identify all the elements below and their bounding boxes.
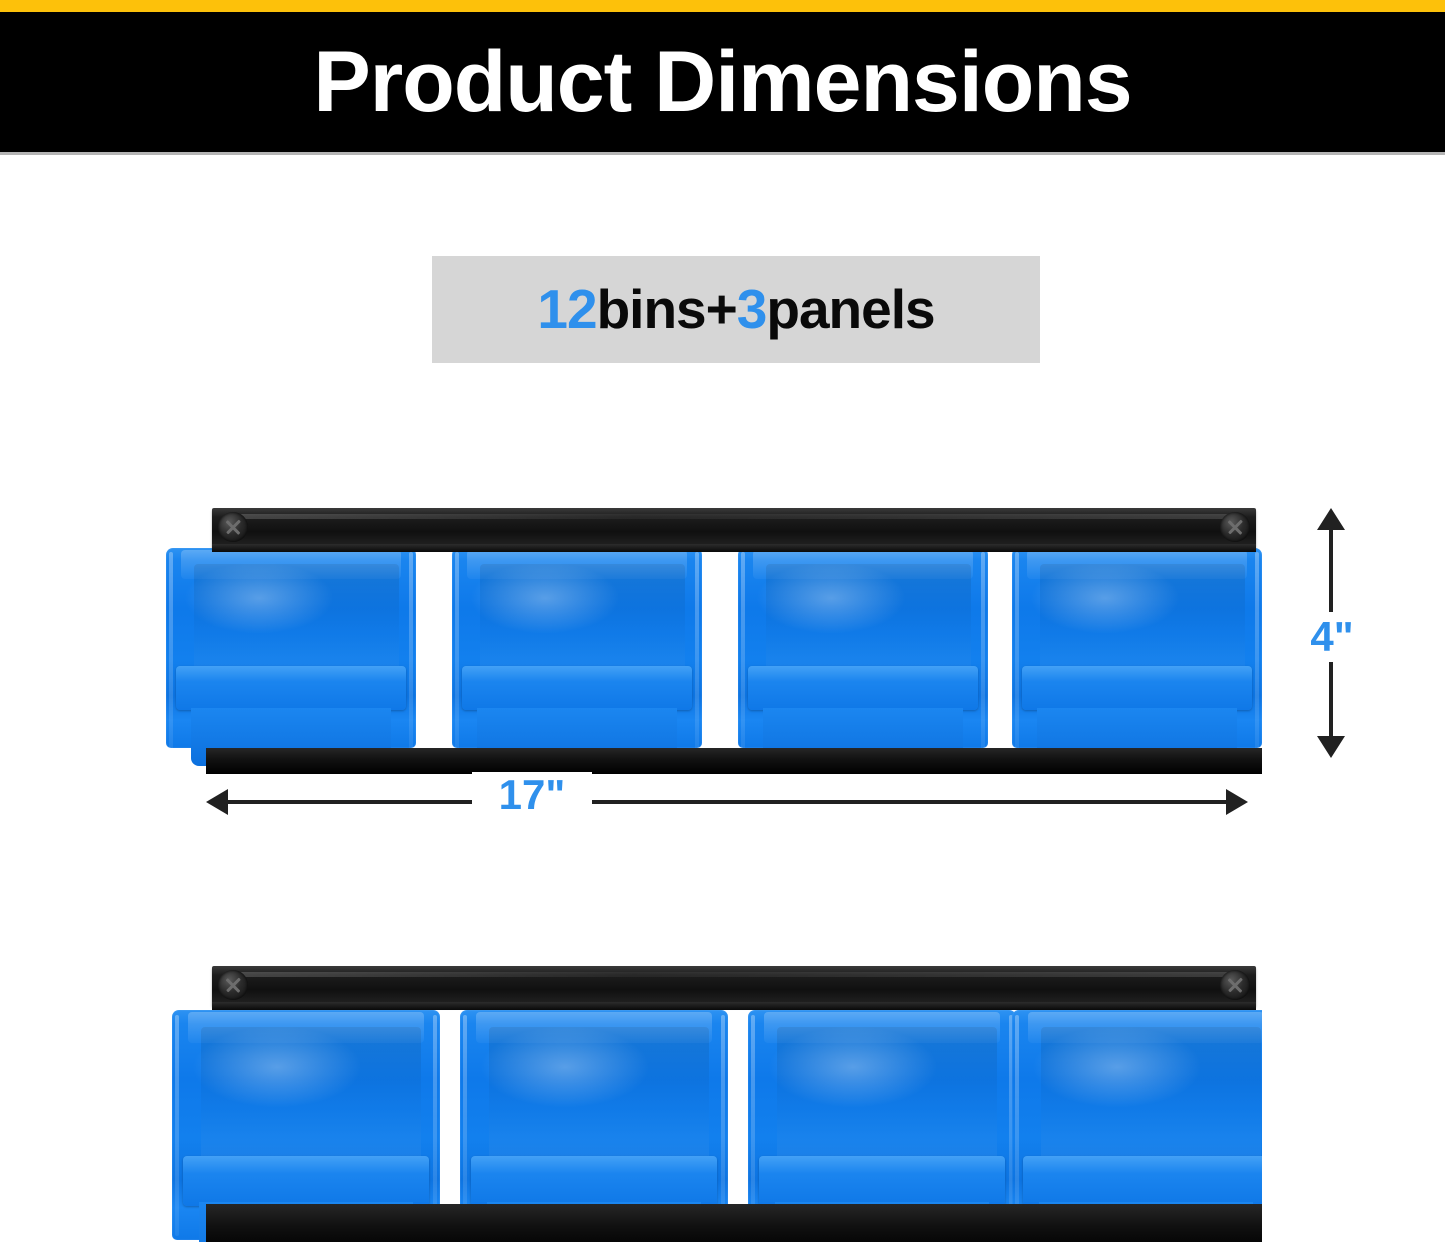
bins-label: bins: [597, 278, 706, 340]
rail-highlight: [233, 514, 1235, 519]
bin-panel-count-text: 12bins+3panels: [537, 282, 934, 337]
header-divider: [0, 152, 1445, 155]
mounting-rail-lip: [212, 1002, 1256, 1010]
storage-bin: [452, 548, 702, 770]
width-dimension-arrow: [206, 784, 1248, 820]
bins-count-value: 12: [537, 278, 596, 340]
storage-bin: [166, 548, 416, 770]
mounting-screw-icon: [218, 970, 248, 1000]
arrow-right-icon: [1226, 789, 1248, 815]
bin-panel-count-callout: 12bins+3panels: [432, 256, 1040, 363]
mounting-screw-icon: [1220, 970, 1250, 1000]
mounting-rail-lip: [212, 544, 1256, 552]
arrow-left-icon: [206, 789, 228, 815]
panels-label: panels: [766, 278, 934, 340]
product-photo-closeup-view: [166, 960, 1262, 1242]
panels-count-value: 3: [737, 278, 767, 340]
mounting-rail: [212, 966, 1256, 1006]
mounting-screw-icon: [1220, 512, 1250, 542]
top-accent-bar: [0, 0, 1445, 12]
page-title: Product Dimensions: [0, 12, 1445, 152]
mounting-rail: [212, 508, 1256, 548]
mounting-rail-bottom-ledge: [206, 1204, 1262, 1242]
product-photo-top-view: [166, 500, 1262, 778]
storage-bin: [738, 548, 988, 770]
plus-symbol: +: [706, 278, 737, 340]
width-dimension-line: [226, 800, 1228, 804]
width-dimension-label: 17": [472, 772, 592, 818]
storage-bin: [1012, 548, 1262, 770]
rail-highlight: [233, 972, 1235, 977]
arrow-up-icon: [1317, 508, 1345, 530]
mounting-rail-bottom-ledge: [206, 748, 1262, 774]
height-dimension-label: 4": [1302, 612, 1362, 662]
mounting-screw-icon: [218, 512, 248, 542]
arrow-down-icon: [1317, 736, 1345, 758]
